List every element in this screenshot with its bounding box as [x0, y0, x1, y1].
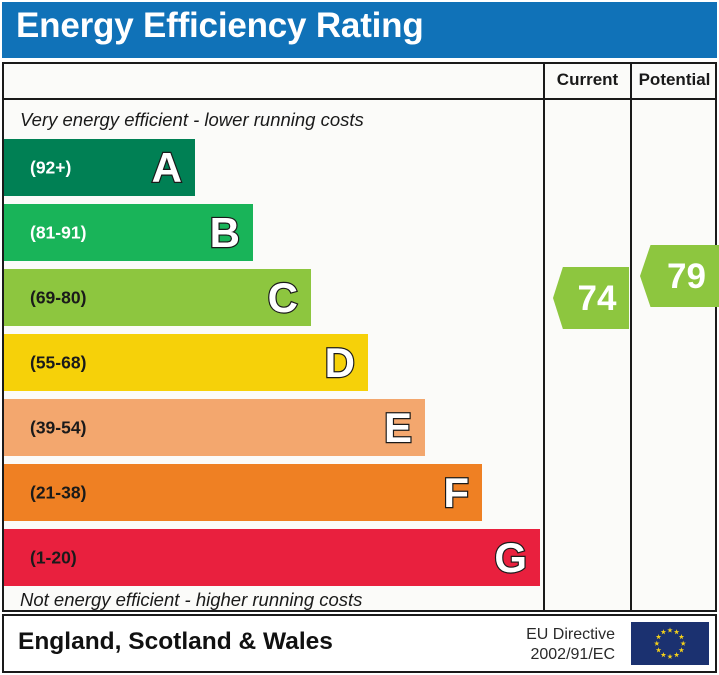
band-letter-a: A: [152, 147, 182, 189]
band-range-e: (39-54): [30, 417, 86, 438]
band-range-f: (21-38): [30, 482, 86, 503]
band-bar-f: (21-38)F: [4, 464, 482, 521]
band-letter-f: F: [443, 472, 469, 514]
footer-directive-line2: 2002/91/EC: [526, 645, 615, 665]
footer-directive-line1: EU Directive: [526, 625, 615, 645]
band-letter-b: B: [210, 212, 240, 254]
column-header-potential: Potential: [632, 70, 717, 90]
band-range-g: (1-20): [30, 547, 77, 568]
rating-value-potential: 79: [655, 259, 706, 294]
column-divider-current: [543, 64, 545, 610]
band-bar-e: (39-54)E: [4, 399, 425, 456]
band-range-d: (55-68): [30, 352, 86, 373]
rating-arrow-potential: 79: [640, 245, 719, 307]
band-range-c: (69-80): [30, 287, 86, 308]
band-bars: (92+)A(81-91)B(69-80)C(55-68)D(39-54)E(2…: [4, 64, 541, 610]
band-range-b: (81-91): [30, 222, 86, 243]
footer-directive-label: EU Directive 2002/91/EC: [526, 625, 615, 665]
footer-bar: England, Scotland & Wales EU Directive 2…: [2, 614, 717, 673]
rating-value-current: 74: [566, 281, 617, 316]
rating-arrow-current: 74: [553, 267, 629, 329]
column-divider-potential: [630, 64, 632, 610]
band-bar-a: (92+)A: [4, 139, 195, 196]
band-bar-d: (55-68)D: [4, 334, 368, 391]
band-bar-g: (1-20)G: [4, 529, 540, 586]
energy-efficiency-rating-chart: Energy Efficiency Rating Current Potenti…: [0, 0, 719, 675]
page-title: Energy Efficiency Rating: [16, 6, 424, 46]
column-header-current: Current: [545, 70, 630, 90]
band-letter-c: C: [268, 277, 298, 319]
band-letter-d: D: [325, 342, 355, 384]
band-letter-e: E: [384, 407, 412, 449]
rating-table: Current Potential Very energy efficient …: [2, 62, 717, 612]
band-bar-b: (81-91)B: [4, 204, 253, 261]
band-bar-c: (69-80)C: [4, 269, 311, 326]
eu-flag-icon: [631, 622, 709, 665]
chart-title-bar: Energy Efficiency Rating: [2, 2, 717, 58]
band-letter-g: G: [494, 537, 527, 579]
band-range-a: (92+): [30, 157, 71, 178]
footer-region-label: England, Scotland & Wales: [18, 628, 333, 656]
